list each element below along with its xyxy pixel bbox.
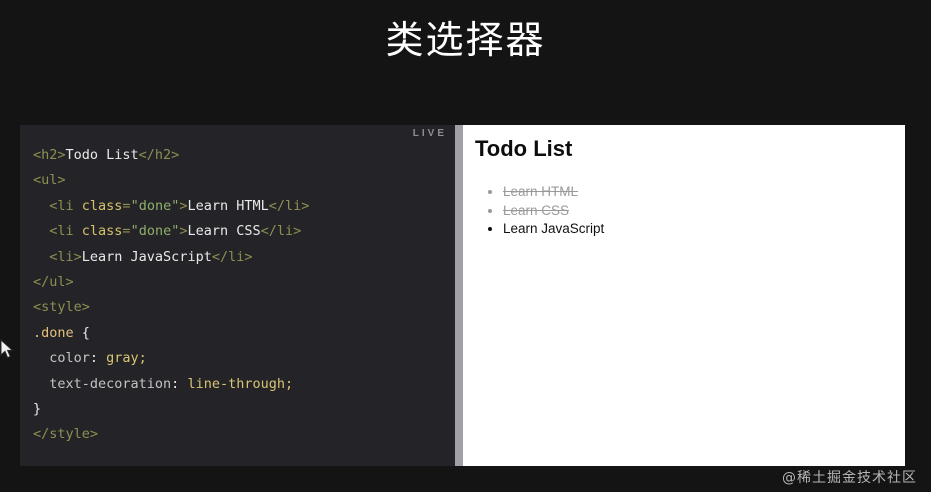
code-token: </h2>: [139, 147, 180, 163]
code-line: }: [33, 397, 309, 422]
code-token: <li: [33, 223, 82, 239]
code-token: <li>: [33, 249, 82, 265]
code-token: =: [122, 198, 130, 214]
code-token: <li: [33, 198, 82, 214]
code-token: </style>: [33, 426, 98, 442]
code-line: <li>Learn JavaScript</li>: [33, 245, 309, 270]
code-token: Todo List: [66, 147, 139, 163]
code-token: }: [33, 401, 41, 417]
page-title: 类选择器: [0, 14, 931, 66]
code-line: <h2>Todo List</h2>: [33, 143, 309, 168]
code-token: "done": [131, 223, 180, 239]
code-line: </style>: [33, 422, 309, 447]
code-line: text-decoration: line-through;: [33, 372, 309, 397]
code-line: <li class="done">Learn HTML</li>: [33, 194, 309, 219]
code-token: line-through;: [187, 376, 293, 392]
mouse-cursor-icon: [0, 339, 14, 359]
code-line: </ul>: [33, 270, 309, 295]
code-token: color: [33, 350, 90, 366]
code-token: </li>: [261, 223, 302, 239]
code-line: <ul>: [33, 168, 309, 193]
code-line: color: gray;: [33, 346, 309, 371]
code-token: gray;: [106, 350, 147, 366]
preview-heading: Todo List: [475, 136, 572, 162]
code-token: :: [171, 376, 187, 392]
list-item: Learn CSS: [503, 202, 604, 220]
code-token: "done": [131, 198, 180, 214]
slide-screen: 类选择器 LIVE <h2>Todo List</h2><ul> <li cla…: [0, 0, 931, 492]
code-token: class: [82, 223, 123, 239]
code-token: text-decoration: [33, 376, 171, 392]
code-token: </li>: [212, 249, 253, 265]
code-line: <li class="done">Learn CSS</li>: [33, 219, 309, 244]
code-token: <style>: [33, 299, 90, 315]
code-token: :: [90, 350, 106, 366]
live-code-editor-card: LIVE <h2>Todo List</h2><ul> <li class="d…: [20, 125, 905, 466]
code-token: </ul>: [33, 274, 74, 290]
code-line: .done {: [33, 321, 309, 346]
code-token: {: [74, 325, 90, 341]
code-line: <style>: [33, 295, 309, 320]
code-token: </li>: [269, 198, 310, 214]
list-item: Learn HTML: [503, 183, 604, 201]
code-token: .done: [33, 325, 74, 341]
code-block[interactable]: <h2>Todo List</h2><ul> <li class="done">…: [33, 143, 309, 448]
code-editor-pane[interactable]: LIVE <h2>Todo List</h2><ul> <li class="d…: [20, 125, 455, 466]
list-item: Learn JavaScript: [503, 220, 604, 238]
watermark: @稀土掘金技术社区: [782, 467, 917, 487]
code-token: Learn JavaScript: [82, 249, 212, 265]
code-token: =: [122, 223, 130, 239]
live-badge: LIVE: [413, 128, 447, 139]
preview-todo-list: Learn HTMLLearn CSSLearn JavaScript: [477, 183, 604, 239]
code-token: Learn HTML: [187, 198, 268, 214]
code-token: Learn CSS: [187, 223, 260, 239]
code-token: <ul>: [33, 172, 66, 188]
pane-divider-scrollbar[interactable]: [455, 125, 463, 466]
preview-pane: Todo List Learn HTMLLearn CSSLearn JavaS…: [463, 125, 905, 466]
code-token: <h2>: [33, 147, 66, 163]
code-token: class: [82, 198, 123, 214]
